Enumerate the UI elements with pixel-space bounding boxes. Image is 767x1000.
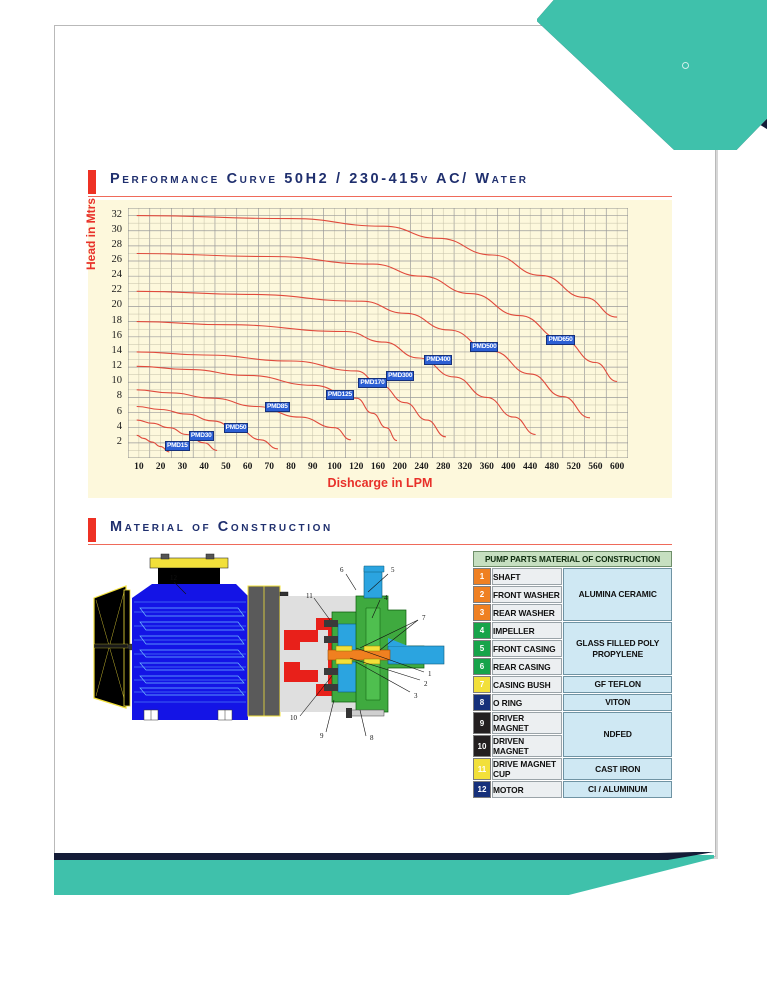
section-rule <box>88 544 672 545</box>
chart-y-tick: 30 <box>98 224 122 235</box>
chart-curve-label: PMD400 <box>424 355 452 365</box>
chart-y-tick: 2 <box>98 436 122 447</box>
svg-text:2: 2 <box>424 680 428 688</box>
chart-curve-label: PMD30 <box>189 431 214 441</box>
moc-part-number: 9 <box>473 712 491 734</box>
svg-text:6: 6 <box>340 566 344 574</box>
chart-curve-label: PMD15 <box>165 441 190 451</box>
chart-curve-label: PMD300 <box>386 371 414 381</box>
moc-part-name: REAR WASHER <box>492 604 562 621</box>
material-of-construction-table: PUMP PARTS MATERIAL OF CONSTRUCTION1SHAF… <box>472 550 673 799</box>
section-accent-bar <box>88 518 96 542</box>
moc-part-name: SHAFT <box>492 568 562 585</box>
performance-section-title: Performance Curve 50H2 / 230-415v AC/ Wa… <box>110 171 529 187</box>
material-section-title: Material of Construction <box>110 519 333 535</box>
svg-text:11: 11 <box>306 592 313 600</box>
datasheet-page: Performance Curve 50H2 / 230-415v AC/ Wa… <box>0 0 767 1000</box>
moc-material: GF TEFLON <box>563 676 672 693</box>
moc-part-number: 11 <box>473 758 491 780</box>
chart-y-axis-label: Head in Mtrs <box>84 198 98 270</box>
chart-curve-label: PMD125 <box>326 390 354 400</box>
moc-part-name: O RING <box>492 694 562 711</box>
moc-material: CI / ALUMINUM <box>563 781 672 798</box>
chart-curve-label: PMD170 <box>358 378 386 388</box>
moc-part-number: 12 <box>473 781 491 798</box>
svg-text:1: 1 <box>428 670 432 678</box>
performance-chart: Head in Mtrs 246810121416182022242628303… <box>88 200 672 498</box>
moc-part-number: 10 <box>473 735 491 757</box>
chart-curve-label: PMD650 <box>546 335 574 345</box>
moc-part-name: MOTOR <box>492 781 562 798</box>
chart-y-tick: 20 <box>98 299 122 310</box>
moc-material: CAST IRON <box>563 758 672 780</box>
section-accent-bar <box>88 170 96 194</box>
moc-material: VITON <box>563 694 672 711</box>
svg-text:7: 7 <box>422 614 426 622</box>
moc-part-name: CASING BUSH <box>492 676 562 693</box>
section-rule <box>88 196 672 197</box>
chart-y-tick: 18 <box>98 315 122 326</box>
table-row: 4IMPELLERGLASS FILLED POLY PROPYLENE <box>473 622 672 639</box>
chart-x-tick: 600 <box>604 462 630 472</box>
pump-assembly-diagram: 12 6 5 4 7 1 2 3 11 10 9 8 <box>88 550 468 790</box>
chart-y-tick: 6 <box>98 406 122 417</box>
moc-material: GLASS FILLED POLY PROPYLENE <box>563 622 672 675</box>
moc-part-name: FRONT CASING <box>492 640 562 657</box>
chart-y-tick: 12 <box>98 360 122 371</box>
svg-text:12: 12 <box>170 574 178 582</box>
chart-y-tick: 8 <box>98 390 122 401</box>
section-performance-curve: Performance Curve 50H2 / 230-415v AC/ Wa… <box>88 170 672 198</box>
chart-y-tick: 28 <box>98 239 122 250</box>
chart-svg <box>128 208 628 458</box>
decorative-corner-top-right <box>537 0 767 150</box>
chart-y-tick: 24 <box>98 269 122 280</box>
svg-text:10: 10 <box>290 714 298 722</box>
table-row: 9DRIVER MAGNETNDFED <box>473 712 672 734</box>
table-row: 1SHAFTALUMINA CERAMIC <box>473 568 672 585</box>
table-row: 11DRIVE MAGNET CUPCAST IRON <box>473 758 672 780</box>
decorative-band-edge <box>54 852 714 860</box>
chart-y-tick: 14 <box>98 345 122 356</box>
chart-y-tick: 10 <box>98 375 122 386</box>
moc-part-name: DRIVEN MAGNET <box>492 735 562 757</box>
moc-part-name: DRIVER MAGNET <box>492 712 562 734</box>
chart-y-tick: 4 <box>98 421 122 432</box>
chart-curve-label: PMD85 <box>265 402 290 412</box>
chart-x-axis-label: Dishcarge in LPM <box>88 476 672 490</box>
moc-part-number: 4 <box>473 622 491 639</box>
chart-y-tick: 32 <box>98 209 122 220</box>
moc-part-number: 6 <box>473 658 491 675</box>
moc-part-name: DRIVE MAGNET CUP <box>492 758 562 780</box>
table-row: 12MOTORCI / ALUMINUM <box>473 781 672 798</box>
chart-y-tick: 16 <box>98 330 122 341</box>
moc-material: NDFED <box>563 712 672 757</box>
moc-part-number: 7 <box>473 676 491 693</box>
chart-curve-label: PMD50 <box>224 423 249 433</box>
registered-mark-dot <box>682 62 689 69</box>
moc-part-name: FRONT WASHER <box>492 586 562 603</box>
moc-material: ALUMINA CERAMIC <box>563 568 672 621</box>
moc-part-number: 8 <box>473 694 491 711</box>
svg-text:5: 5 <box>391 566 395 574</box>
moc-part-name: REAR CASING <box>492 658 562 675</box>
moc-part-name: IMPELLER <box>492 622 562 639</box>
chart-plot-area: 2468101214161820222426283032102030405060… <box>128 208 628 458</box>
decorative-band-bottom <box>54 855 714 895</box>
moc-table-header: PUMP PARTS MATERIAL OF CONSTRUCTION <box>473 551 672 567</box>
moc-part-number: 3 <box>473 604 491 621</box>
svg-text:4: 4 <box>384 594 388 602</box>
section-material-of-construction: Material of Construction <box>88 518 672 546</box>
moc-part-number: 1 <box>473 568 491 585</box>
svg-text:8: 8 <box>370 734 374 742</box>
chart-curve-label: PMD500 <box>470 342 498 352</box>
chart-y-tick: 22 <box>98 284 122 295</box>
moc-part-number: 5 <box>473 640 491 657</box>
moc-part-number: 2 <box>473 586 491 603</box>
table-row: 8O RINGVITON <box>473 694 672 711</box>
table-row: 7CASING BUSHGF TEFLON <box>473 676 672 693</box>
chart-y-tick: 26 <box>98 254 122 265</box>
svg-text:9: 9 <box>320 732 324 740</box>
svg-text:3: 3 <box>414 692 418 700</box>
